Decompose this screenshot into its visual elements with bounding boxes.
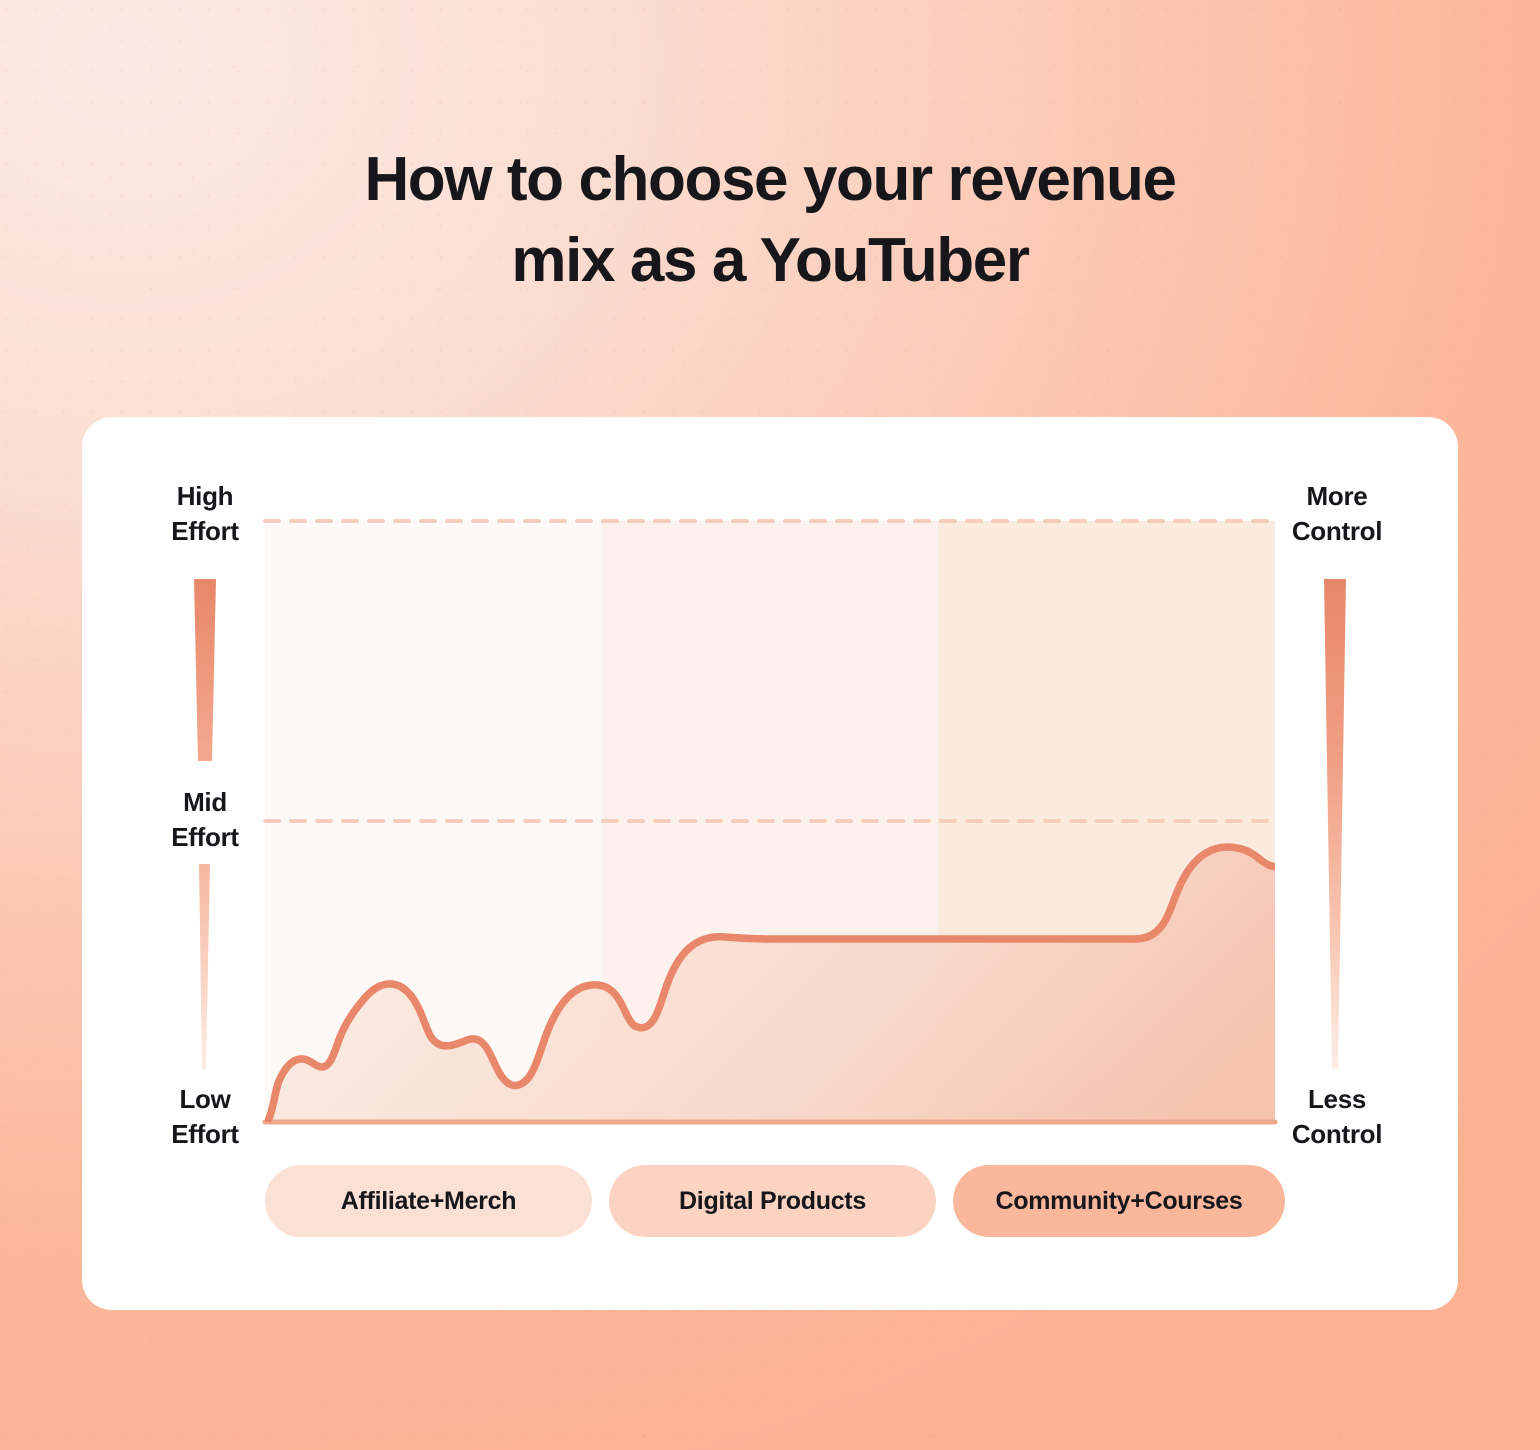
page-title: How to choose your revenue mix as a YouT… [0,140,1540,301]
category-pill-affiliate-merch[interactable]: Affiliate+Merch [265,1165,592,1237]
chart-card: High Effort Mid Effort Low Effort [82,417,1458,1310]
category-pill-label: Digital Products [679,1187,866,1216]
category-pill-community-courses[interactable]: Community+Courses [953,1165,1285,1237]
page-title-line-2: mix as a YouTuber [0,221,1540,302]
category-pill-digital-products[interactable]: Digital Products [609,1165,936,1237]
category-pill-label: Affiliate+Merch [341,1187,516,1216]
page-title-line-1: How to choose your revenue [0,140,1540,221]
category-pill-label: Community+Courses [995,1187,1242,1216]
category-legend: Affiliate+Merch Digital Products Communi… [265,1165,1285,1237]
